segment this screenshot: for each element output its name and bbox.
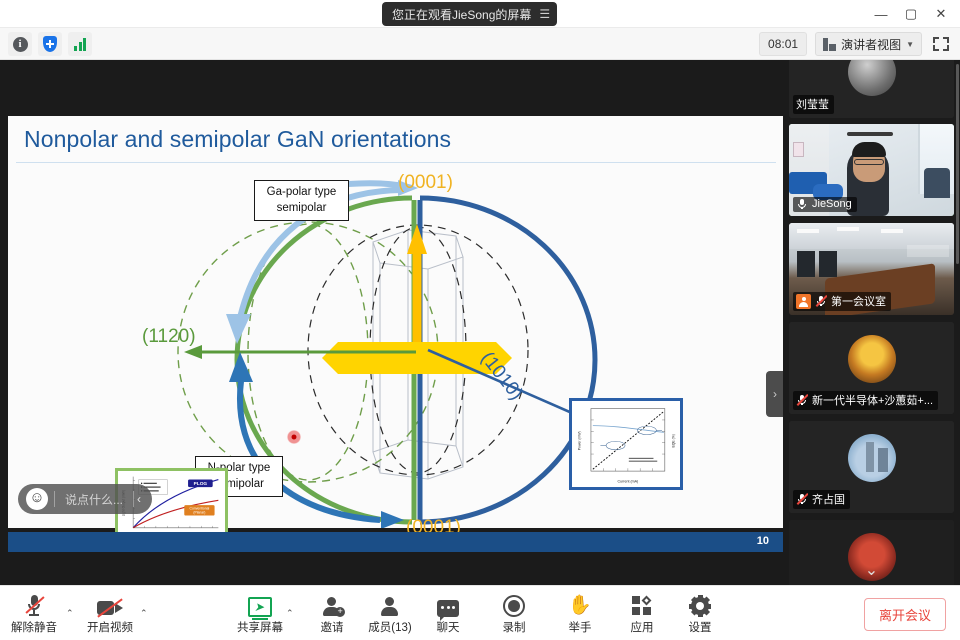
- list-menu-icon[interactable]: ☰: [539, 8, 549, 20]
- gear-icon: [689, 591, 711, 617]
- mic-options-chevron-icon[interactable]: ⌃: [66, 608, 74, 619]
- label-11-20: (1120): [142, 326, 196, 348]
- participant-nameplate: 第一会议室: [793, 292, 891, 311]
- control-label: 举手: [569, 619, 592, 635]
- camera-off-icon: [97, 591, 123, 617]
- control-label: 解除静音: [11, 619, 57, 635]
- fullscreen-icon[interactable]: [930, 33, 952, 55]
- participant-name: 新一代半导体+沙蕙茹+...: [812, 392, 933, 408]
- control-chat[interactable]: 聊天: [416, 591, 480, 635]
- raise-hand-icon: ✋: [568, 591, 592, 617]
- svg-text:PLOG: PLOG: [194, 481, 208, 487]
- info-icon[interactable]: i: [8, 32, 32, 56]
- participant-nameplate: 齐占国: [793, 490, 850, 509]
- microphone-icon: [796, 198, 808, 210]
- maximize-button[interactable]: ▢: [896, 0, 926, 28]
- chat-collapse-icon[interactable]: ‹: [134, 492, 148, 506]
- control-raise-hand[interactable]: ✋ 举手: [548, 591, 612, 635]
- view-mode-label: 演讲者视图: [841, 36, 901, 53]
- participant-nameplate: JieSong: [793, 197, 857, 212]
- control-settings[interactable]: 设置: [668, 591, 732, 635]
- avatar: [848, 434, 896, 482]
- control-label: 聊天: [437, 619, 460, 635]
- control-invite[interactable]: + 邀请: [300, 591, 364, 635]
- speaker-view-icon: [823, 38, 836, 51]
- presentation-slide: Nonpolar and semipolar GaN orientations: [8, 116, 783, 528]
- zoom-meeting-window: 您正在观看JieSong的屏幕 ☰ — ▢ ✕ i 08:01 演讲者视图 ▼: [0, 0, 960, 640]
- caption-ga-polar: Ga-polar type semipolar: [254, 180, 349, 221]
- control-label: 成员(13): [368, 619, 411, 635]
- share-screen-icon: ➤: [248, 591, 272, 617]
- smiley-icon[interactable]: ☺: [26, 488, 48, 510]
- meeting-timer: 08:01: [759, 32, 807, 56]
- participant-tile[interactable]: 刘莹莹: [789, 60, 954, 118]
- participant-nameplate: 刘莹莹: [793, 95, 834, 114]
- host-badge-icon: [796, 294, 811, 309]
- chevron-down-icon: ▼: [906, 40, 914, 49]
- participant-name: 刘莹莹: [796, 96, 829, 112]
- n-polar-curved-arrow: [229, 352, 404, 528]
- control-label: 设置: [689, 619, 712, 635]
- add-person-icon: +: [321, 591, 343, 617]
- microphone-muted-icon: [796, 394, 808, 406]
- svg-text:Power (mW): Power (mW): [578, 431, 582, 450]
- view-mode-select[interactable]: 演讲者视图 ▼: [815, 32, 922, 56]
- window-buttons: — ▢ ✕: [866, 0, 956, 28]
- meeting-control-bar: 解除静音 ⌃ 开启视频 ⌃ ➤ 共享屏幕 ⌃ + 邀请 成员: [0, 585, 960, 640]
- apps-grid-icon: [632, 591, 653, 617]
- inset-right-plot: Current (mA) Power (mW) EQE (%): [572, 401, 680, 488]
- network-bars-icon[interactable]: [68, 32, 92, 56]
- share-options-chevron-icon[interactable]: ⌃: [286, 608, 294, 619]
- microphone-muted-icon: [815, 295, 827, 307]
- avatar: [848, 335, 896, 383]
- page-title: Nonpolar and semipolar GaN orientations: [24, 126, 451, 153]
- microphone-muted-icon: [796, 493, 808, 505]
- leave-meeting-button[interactable]: 离开会议: [864, 598, 946, 631]
- video-options-chevron-icon[interactable]: ⌃: [140, 608, 148, 619]
- svg-text:Current (mA): Current (mA): [618, 479, 639, 483]
- participant-name: 第一会议室: [831, 293, 886, 309]
- title-bar: 您正在观看JieSong的屏幕 ☰ — ▢ ✕: [0, 0, 960, 28]
- participant-nameplate: 新一代半导体+沙蕙茹+...: [793, 391, 938, 410]
- participant-name: JieSong: [812, 198, 852, 210]
- rail-scrollbar[interactable]: [956, 64, 959, 264]
- label-0001-top: (0001): [398, 172, 453, 194]
- participant-tile-active[interactable]: JieSong: [789, 124, 954, 216]
- control-apps[interactable]: 应用: [610, 591, 674, 635]
- participant-tile[interactable]: ⌄: [789, 520, 954, 585]
- toolbar-left-icons: i: [8, 32, 92, 56]
- chat-quick-input[interactable]: ☺ 说点什么... ‹: [18, 484, 152, 514]
- participant-tile[interactable]: 新一代半导体+沙蕙茹+...: [789, 322, 954, 414]
- minimize-button[interactable]: —: [866, 0, 896, 28]
- participant-rail[interactable]: 刘莹莹 JieSong: [783, 60, 960, 585]
- control-label: 录制: [503, 619, 526, 635]
- control-label: 开启视频: [87, 619, 133, 635]
- control-unmute[interactable]: 解除静音: [2, 591, 66, 635]
- toolbar-right-group: 08:01 演讲者视图 ▼: [759, 32, 952, 56]
- screen-share-banner-text: 您正在观看JieSong的屏幕: [392, 6, 531, 23]
- microphone-muted-icon: [26, 591, 42, 617]
- participant-tile[interactable]: 齐占国: [789, 421, 954, 513]
- control-members[interactable]: 成员(13): [358, 591, 422, 635]
- chat-input-placeholder[interactable]: 说点什么...: [55, 491, 133, 508]
- control-share-screen[interactable]: ➤ 共享屏幕: [228, 591, 292, 635]
- chat-bubble-icon: [437, 591, 459, 617]
- close-button[interactable]: ✕: [926, 0, 956, 28]
- rail-collapse-handle[interactable]: ›: [766, 371, 783, 417]
- control-label: 应用: [631, 619, 654, 635]
- screen-share-banner[interactable]: 您正在观看JieSong的屏幕 ☰: [382, 2, 557, 26]
- meeting-toolbar: i 08:01 演讲者视图 ▼: [0, 28, 960, 60]
- control-start-video[interactable]: 开启视频: [78, 591, 142, 635]
- crystal-orientation-figure: Ga-polar type semipolar N-polar type sem…: [8, 162, 783, 528]
- chevron-down-icon[interactable]: ⌄: [865, 560, 878, 580]
- svg-text:(Planar): (Planar): [193, 511, 205, 515]
- slide-page-number: 10: [757, 535, 769, 547]
- inset-chart-power-eqe: Current (mA) Power (mW) EQE (%): [569, 398, 683, 490]
- shield-plus-icon[interactable]: [38, 32, 62, 56]
- slide-footer-bar: 10: [8, 532, 783, 552]
- laser-pointer-dot: [287, 430, 301, 444]
- control-label: 邀请: [321, 619, 344, 635]
- control-record[interactable]: 录制: [482, 591, 546, 635]
- shared-screen-stage[interactable]: Nonpolar and semipolar GaN orientations: [0, 60, 783, 585]
- participant-tile[interactable]: 第一会议室: [789, 223, 954, 315]
- participant-name: 齐占国: [812, 491, 845, 507]
- record-icon: [503, 591, 525, 617]
- people-icon: [379, 591, 401, 617]
- svg-text:EQE (%): EQE (%): [671, 434, 675, 447]
- control-label: 共享屏幕: [237, 619, 283, 635]
